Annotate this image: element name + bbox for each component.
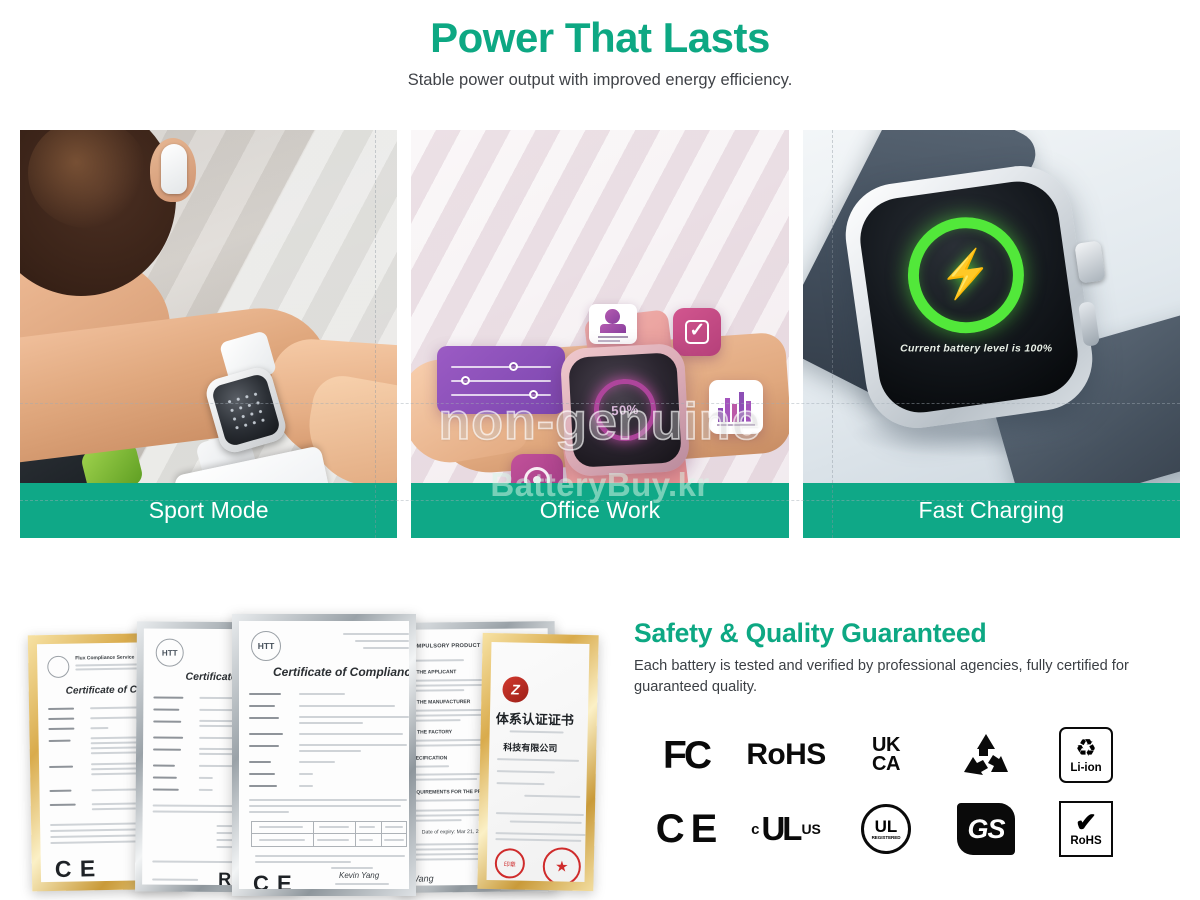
page-subtitle: Stable power output with improved energy… xyxy=(0,71,1200,90)
earbud-icon xyxy=(161,144,187,194)
li-ion-recycle-logo: ♻ Li-ion xyxy=(1036,718,1136,792)
cul-suffix: US xyxy=(801,821,820,837)
checkmark-icon: ✔ xyxy=(1075,811,1097,834)
safety-title: Safety & Quality Guaranteed xyxy=(634,618,1184,649)
ul-mark: UL xyxy=(761,810,799,848)
recycle-icon-small: ♻ xyxy=(1075,737,1097,761)
crop-guide-horizontal xyxy=(20,403,1180,404)
product-infographic-page: Power That Lasts Stable power output wit… xyxy=(0,0,1200,900)
gs-logo: GS xyxy=(936,792,1036,866)
cul-prefix: c xyxy=(751,821,759,838)
card-label-fast-charging: Fast Charging xyxy=(803,483,1180,538)
certificate-title: Certificate of Compliance xyxy=(273,665,409,679)
smartwatch-office: 50% xyxy=(560,343,691,477)
ukca-line2: CA xyxy=(872,755,900,774)
feature-card-fast-charging: ⚡ Current battery level is 100% Fast Cha… xyxy=(803,130,1180,538)
fast-charging-photo: ⚡ Current battery level is 100% xyxy=(803,130,1180,483)
feature-card-row: Sport Mode xyxy=(20,130,1180,538)
page-header: Power That Lasts Stable power output wit… xyxy=(0,14,1200,90)
certificate-china-system: Z 体系认证证书 科技有限公司 印章 ★ 认证有限公司 xyxy=(477,633,598,891)
checkbox-tile: ✓ xyxy=(673,308,721,356)
office-work-photo: ✓ 50% xyxy=(411,130,788,483)
safety-description: Each battery is tested and verified by p… xyxy=(634,656,1184,697)
cul-us-logo: c UL US xyxy=(736,792,836,866)
crop-guide-vertical xyxy=(375,130,376,538)
recycle-icon xyxy=(961,732,1011,778)
digital-crown xyxy=(1074,240,1105,283)
li-ion-label: Li-ion xyxy=(1070,762,1101,774)
ce-logo: C E xyxy=(636,792,736,866)
rohs-logo: RoHS xyxy=(736,718,836,792)
fcc-logo: FC xyxy=(636,718,736,792)
ul-circle-mark: UL xyxy=(875,818,898,835)
recycle-logo xyxy=(936,718,1036,792)
safety-text-block: Safety & Quality Guaranteed Each battery… xyxy=(634,618,1184,697)
ul-registered-label: REGISTERED xyxy=(872,835,901,840)
certificate-htt-compliance: HTT Certificate of Compliance xyxy=(232,614,416,896)
page-title: Power That Lasts xyxy=(0,14,1200,61)
sport-mode-photo xyxy=(20,130,397,483)
card-label-office-work: Office Work xyxy=(411,483,788,538)
battery-percent-label: 50% xyxy=(611,402,639,418)
bar-chart-tile xyxy=(709,380,763,434)
rohs-check-logo: ✔ RoHS xyxy=(1036,792,1136,866)
lightning-bolt-icon: ⚡ xyxy=(935,250,995,301)
feature-card-sport-mode: Sport Mode xyxy=(20,130,397,538)
certification-logo-row-2: C E c UL US UL REGISTERED GS xyxy=(636,792,1136,866)
feature-card-office-work: ✓ 50% xyxy=(411,130,788,538)
certificate-stack: Flux Compliance Service Certificate of C xyxy=(18,608,598,894)
crop-guide-vertical xyxy=(832,130,833,538)
card-label-sport-mode: Sport Mode xyxy=(20,483,397,538)
safety-section: Flux Compliance Service Certificate of C xyxy=(0,600,1200,900)
crop-guide-horizontal xyxy=(20,500,1180,501)
contact-card-tile xyxy=(589,304,637,344)
smartwatch-charging: ⚡ Current battery level is 100% xyxy=(839,159,1099,434)
battery-level-text: Current battery level is 100% xyxy=(900,342,1052,354)
gear-tile xyxy=(511,454,563,483)
ul-registered-logo: UL REGISTERED xyxy=(836,792,936,866)
rohs-label: RoHS xyxy=(1070,835,1101,847)
ukca-logo: UK CA xyxy=(836,718,936,792)
certification-logo-row-1: FC RoHS UK CA xyxy=(636,718,1136,792)
certification-logo-grid: FC RoHS UK CA xyxy=(636,718,1136,866)
